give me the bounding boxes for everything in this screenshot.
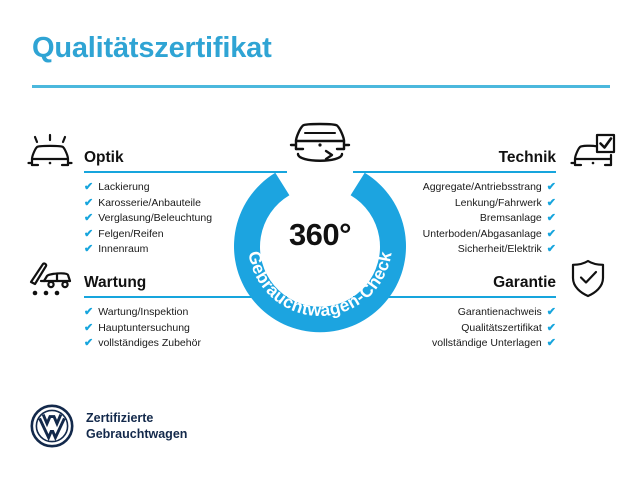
vw-logo <box>30 404 74 448</box>
section-technik: Technik Aggregate/Antriebsstrang✔ Lenkun… <box>391 143 556 258</box>
check-icon: ✔ <box>547 227 556 243</box>
list-item-label: Aggregate/Antriebsstrang <box>423 180 542 196</box>
check-icon: ✔ <box>84 305 93 321</box>
check-icon: ✔ <box>547 196 556 212</box>
section-title: Technik <box>499 149 556 167</box>
list-item: ✔Verglasung/Beleuchtung <box>84 211 249 227</box>
list-item: ✔Lackierung <box>84 180 249 196</box>
car-checkbox-icon <box>570 133 616 173</box>
list-item: ✔Wartung/Inspektion <box>84 305 249 321</box>
check-icon: ✔ <box>84 196 93 212</box>
check-icon: ✔ <box>84 180 93 196</box>
checklist-technik: Aggregate/Antriebsstrang✔ Lenkung/Fahrwe… <box>391 180 556 258</box>
list-item: Aggregate/Antriebsstrang✔ <box>391 180 556 196</box>
check-icon: ✔ <box>84 211 93 227</box>
check-icon: ✔ <box>84 227 93 243</box>
list-item: ✔Karosserie/Anbauteile <box>84 196 249 212</box>
section-header: Wartung <box>84 268 249 298</box>
section-title: Optik <box>84 149 124 167</box>
car-lift-service-icon <box>27 258 73 298</box>
section-header: Optik <box>84 143 249 173</box>
section-title: Garantie <box>493 274 556 292</box>
checklist-optik: ✔Lackierung ✔Karosserie/Anbauteile ✔Verg… <box>84 180 249 258</box>
check-icon: ✔ <box>547 242 556 258</box>
list-item-label: Unterboden/Abgasanlage <box>423 227 542 243</box>
footer-brand: Zertifizierte Gebrauchtwagen <box>30 404 187 448</box>
certificate-page: Qualitätszertifikat Optik ✔Lackierung ✔K… <box>0 0 640 480</box>
check-icon: ✔ <box>84 336 93 352</box>
badge-center-label: 360° <box>231 217 409 253</box>
list-item-label: Karosserie/Anbauteile <box>98 196 201 212</box>
footer-line-2: Gebrauchtwagen <box>86 426 187 442</box>
check-icon: ✔ <box>84 321 93 337</box>
list-item: ✔Innenraum <box>84 242 249 258</box>
check-icon: ✔ <box>547 211 556 227</box>
footer-line-1: Zertifizierte <box>86 410 187 426</box>
car-rotate-icon <box>282 119 358 171</box>
list-item: Lenkung/Fahrwerk✔ <box>391 196 556 212</box>
section-title: Wartung <box>84 274 146 292</box>
list-item: Garantienachweis✔ <box>391 305 556 321</box>
check-icon: ✔ <box>84 242 93 258</box>
shield-check-icon <box>565 258 611 298</box>
list-item-label: Wartung/Inspektion <box>98 305 188 321</box>
footer-text: Zertifizierte Gebrauchtwagen <box>86 410 187 442</box>
check-icon: ✔ <box>547 321 556 337</box>
list-item-label: Innenraum <box>98 242 148 258</box>
list-item-label: vollständiges Zubehör <box>98 336 201 352</box>
list-item-label: Lenkung/Fahrwerk <box>455 196 542 212</box>
section-wartung: Wartung ✔Wartung/Inspektion ✔Hauptunters… <box>84 268 249 352</box>
list-item: Bremsanlage✔ <box>391 211 556 227</box>
check-icon: ✔ <box>547 180 556 196</box>
checklist-wartung: ✔Wartung/Inspektion ✔Hauptuntersuchung ✔… <box>84 305 249 352</box>
list-item: vollständige Unterlagen✔ <box>391 336 556 352</box>
page-title: Qualitätszertifikat <box>32 32 272 65</box>
list-item: Unterboden/Abgasanlage✔ <box>391 227 556 243</box>
list-item: ✔Hauptuntersuchung <box>84 321 249 337</box>
list-item-label: Felgen/Reifen <box>98 227 163 243</box>
car-shine-icon <box>27 133 73 173</box>
check-icon: ✔ <box>547 336 556 352</box>
list-item: ✔vollständiges Zubehör <box>84 336 249 352</box>
list-item-label: Garantienachweis <box>458 305 542 321</box>
section-optik: Optik ✔Lackierung ✔Karosserie/Anbauteile… <box>84 143 249 258</box>
list-item-label: vollständige Unterlagen <box>432 336 542 352</box>
badge-360-gebrauchtwagen-check: Gebrauchtwagen-Check 360° <box>231 155 409 333</box>
list-item-label: Lackierung <box>98 180 149 196</box>
title-divider <box>32 85 610 88</box>
list-item-label: Hauptuntersuchung <box>98 321 190 337</box>
list-item: Sicherheit/Elektrik✔ <box>391 242 556 258</box>
list-item-label: Bremsanlage <box>480 211 542 227</box>
section-header: Technik <box>391 143 556 173</box>
section-header: Garantie <box>391 268 556 298</box>
list-item-label: Verglasung/Beleuchtung <box>98 211 212 227</box>
check-icon: ✔ <box>547 305 556 321</box>
section-garantie: Garantie Garantienachweis✔ Qualitätszert… <box>391 268 556 352</box>
list-item-label: Sicherheit/Elektrik <box>458 242 542 258</box>
checklist-garantie: Garantienachweis✔ Qualitätszertifikat✔ v… <box>391 305 556 352</box>
list-item: Qualitätszertifikat✔ <box>391 321 556 337</box>
list-item: ✔Felgen/Reifen <box>84 227 249 243</box>
list-item-label: Qualitätszertifikat <box>461 321 542 337</box>
